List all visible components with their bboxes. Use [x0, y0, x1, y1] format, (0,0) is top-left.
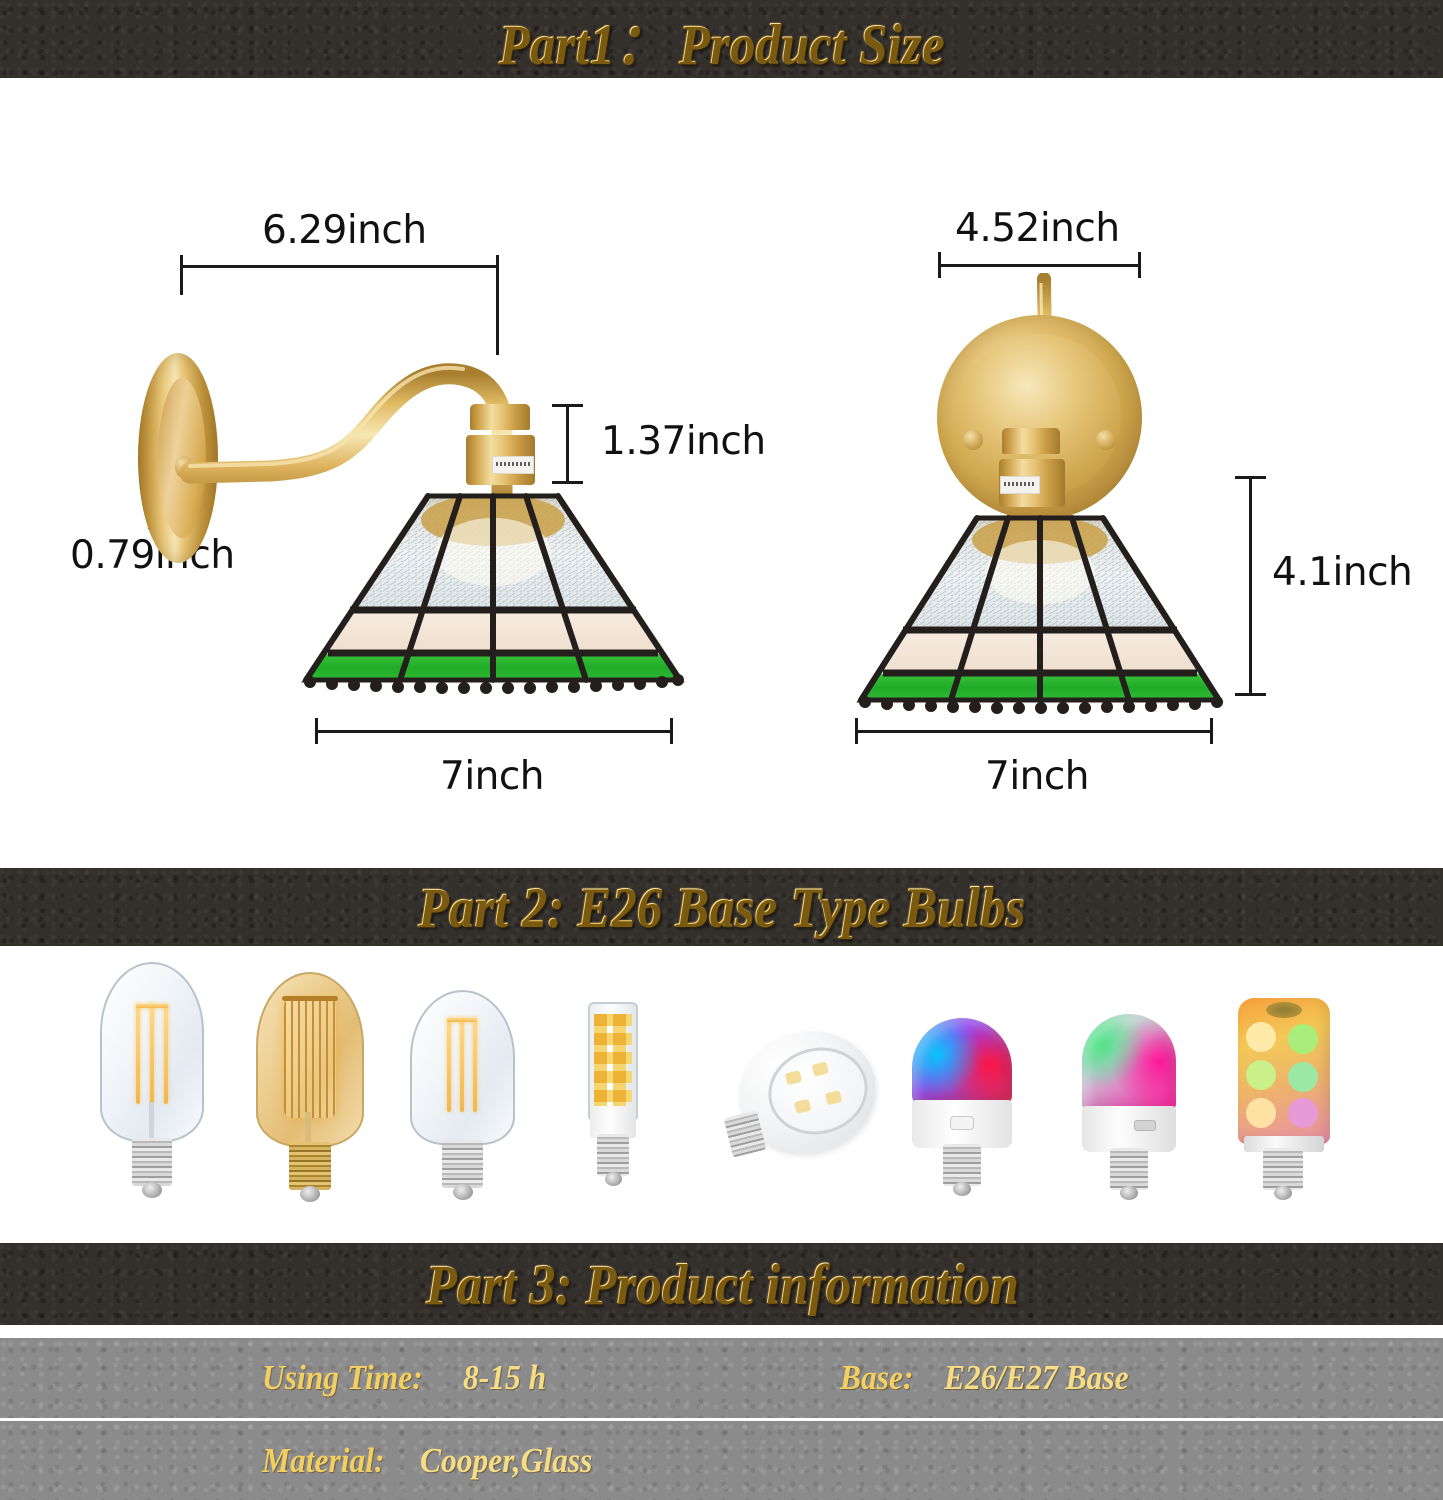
- left-socket-height-line: [566, 404, 569, 484]
- left-extension-tick-start: [180, 255, 183, 295]
- a19-base-tip: [453, 1184, 473, 1200]
- st64-amber-e26-base: [289, 1142, 331, 1190]
- material-value: Cooper,Glass: [420, 1441, 592, 1481]
- left-socket-height-label: 1.37inch: [601, 419, 766, 464]
- left-shade-width-line: [315, 730, 673, 733]
- bulb-rgb-capsule: [1068, 1014, 1190, 1199]
- left-tiffany-shade: [288, 490, 698, 720]
- right-socket-rating-label: [1000, 476, 1040, 494]
- part1-title: Part1： Product Size: [499, 0, 945, 78]
- section-banner-part1: Part1： Product Size: [0, 0, 1443, 78]
- bulb-corn-led: [570, 1002, 654, 1202]
- info-cell-using-time: Using Time: 8-15 h: [262, 1338, 555, 1418]
- bulb-a19-clear: [405, 990, 520, 1210]
- using-time-value: 8-15 h: [463, 1358, 546, 1398]
- st64-clear-base-tip: [142, 1182, 162, 1198]
- rgb-capsule-e26-base: [1110, 1148, 1148, 1190]
- right-backplate-width-line: [938, 264, 1141, 267]
- st64-amber-cage-filament: [284, 998, 336, 1118]
- a19-e26-base: [442, 1140, 483, 1188]
- right-backplate-screw-right: [1096, 430, 1116, 450]
- bulb-types-row: [0, 946, 1443, 1243]
- bulb-puck-disc: [718, 1026, 878, 1191]
- table-row: Material: Cooper,Glass: [0, 1421, 1443, 1500]
- rgb-flame-base-tip: [1274, 1186, 1292, 1200]
- right-shade-width-tick-start: [855, 718, 858, 744]
- left-extension-dim-line: [180, 265, 498, 268]
- rgb-dome-e26-base: [943, 1144, 981, 1186]
- right-backplate-screw-left: [963, 430, 983, 450]
- left-socket-rating-label: [492, 456, 534, 474]
- info-cell-base: Base: E26/E27 Base: [840, 1338, 1149, 1418]
- corn-led-e12-base: [597, 1134, 629, 1176]
- left-extension-dim-label: 6.29inch: [262, 208, 427, 253]
- right-backplate-width-tick-start: [938, 252, 941, 278]
- product-infographic: Part1： Product Size 6.29inch 0.79inch 1.…: [0, 0, 1443, 1500]
- st64-amber-filament-top-bar: [282, 996, 338, 1001]
- part2-title: Part 2: E26 Base Type Bulbs: [418, 875, 1026, 940]
- right-tiffany-shade: [845, 512, 1235, 742]
- right-backplate-width-tick-end: [1138, 252, 1141, 278]
- bulb-rgb-dome: [900, 1018, 1025, 1198]
- a19-filament-group: [447, 1018, 479, 1118]
- bulb-st64-clear: [92, 962, 212, 1212]
- using-time-key: Using Time:: [262, 1358, 423, 1398]
- left-socket-height-tick-bottom: [552, 481, 583, 484]
- left-shade-width-tick-end: [670, 718, 673, 744]
- right-shade-width-tick-end: [1210, 718, 1213, 744]
- table-row: Using Time: 8-15 h Base: E26/E27 Base: [0, 1338, 1443, 1418]
- part3-title: Part 3: Product information: [425, 1252, 1018, 1317]
- rgb-flame-e26-base: [1263, 1148, 1303, 1190]
- corn-led-chip-array: [594, 1014, 632, 1106]
- rgb-flame-top-vent: [1266, 1002, 1302, 1018]
- section-banner-part2: Part 2: E26 Base Type Bulbs: [0, 868, 1443, 946]
- corn-led-base-tip: [605, 1172, 622, 1186]
- info-cell-material: Material: Cooper,Glass: [262, 1421, 612, 1500]
- right-shade-width-line: [855, 730, 1213, 733]
- base-key: Base:: [840, 1358, 913, 1398]
- product-size-diagram: 6.29inch 0.79inch 1.37inch: [0, 78, 1443, 868]
- right-height-label: 4.1inch: [1272, 550, 1412, 595]
- right-height-tick-bottom: [1235, 693, 1266, 696]
- right-height-line: [1249, 476, 1252, 696]
- rgb-capsule-color-head: [1082, 1014, 1176, 1110]
- left-shade-width-label: 7inch: [440, 754, 544, 799]
- rgb-dome-base-tip: [953, 1182, 971, 1196]
- right-backplate-width-label: 4.52inch: [955, 206, 1120, 251]
- right-shade-width-label: 7inch: [985, 754, 1089, 799]
- rgb-dome-power-button: [950, 1116, 974, 1130]
- material-key: Material:: [262, 1441, 384, 1481]
- rgb-dome-color-head: [912, 1018, 1012, 1104]
- rgb-capsule-white-collar: [1082, 1106, 1176, 1152]
- st64-amber-base-tip: [300, 1186, 320, 1202]
- rgb-capsule-base-tip: [1120, 1186, 1138, 1200]
- base-value: E26/E27 Base: [944, 1358, 1129, 1398]
- st64-clear-filament-group: [136, 1004, 170, 1114]
- rgb-flame-led-dots: [1244, 1018, 1324, 1134]
- left-shade-width-tick-start: [315, 718, 318, 744]
- st64-clear-e26-base: [132, 1138, 172, 1186]
- right-height-tick-top: [1235, 476, 1266, 479]
- section-banner-part3: Part 3: Product information: [0, 1243, 1443, 1325]
- bulb-st64-amber: [250, 972, 370, 1212]
- left-socket-height-tick-top: [552, 404, 583, 407]
- rgb-capsule-usb-port: [1134, 1120, 1156, 1131]
- bulb-rgb-flame: [1222, 998, 1344, 1198]
- st64-clear-stem: [149, 1102, 154, 1142]
